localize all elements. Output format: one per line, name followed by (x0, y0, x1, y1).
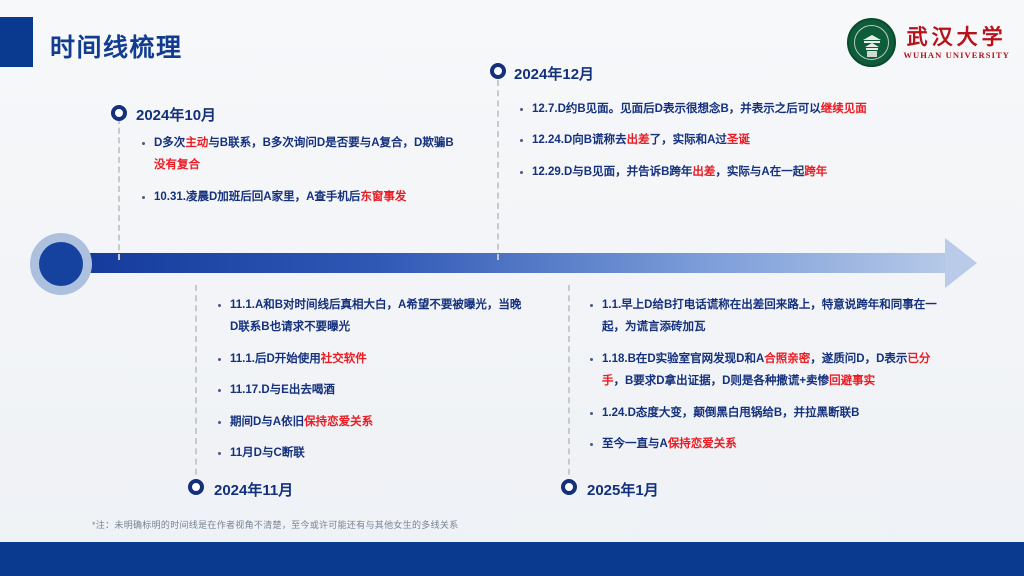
text-seg: 11.1.后D开始使用 (230, 353, 321, 365)
timeline-node-dec-2024[interactable] (490, 63, 506, 79)
list-item: 期间D与A依旧保持恋爱关系 (216, 411, 526, 433)
connector-dec-2024 (497, 80, 499, 260)
list-item: 1.24.D态度大变，颠倒黑白甩锅给B，并拉黑断联B (588, 402, 938, 424)
bullet-list-oct-2024: D多次主动与B联系，B多次询问D是否要与A复合，D欺骗B没有复合 10.31.凌… (140, 132, 460, 208)
list-item: 1.1.早上D给B打电话谎称在出差回来路上，特意说跨年和同事在一起，为谎言添砖加… (588, 294, 938, 339)
slide-canvas: 时间线梳理 武汉大学 WUHAN UNIVERSITY 2024年10月 (0, 0, 1024, 576)
list-item: 11.1.后D开始使用社交软件 (216, 348, 526, 370)
timeline-node-oct-2024[interactable] (111, 105, 127, 121)
header-accent-square (0, 17, 33, 67)
text-seg-highlight: 出差 (627, 134, 650, 146)
list-item: 11.17.D与E出去喝酒 (216, 379, 526, 401)
text-seg: 12.7.D约B见面。见面后D表示很想念B，并表示之后可以 (532, 103, 821, 115)
list-item: 11月D与C断联 (216, 442, 526, 464)
text-seg-highlight: 跨年 (804, 166, 827, 178)
text-seg-highlight: 保持恋爱关系 (668, 438, 737, 450)
timeline-arrow-head (945, 238, 977, 288)
university-name-block: 武汉大学 WUHAN UNIVERSITY (903, 26, 1010, 60)
text-seg: 11月D与C断联 (230, 447, 305, 459)
timeline-label-nov-2024: 2024年11月 (214, 479, 293, 500)
list-item: 10.31.凌晨D加班后回A家里，A查手机后东窗事发 (140, 186, 460, 208)
text-seg-highlight: 社交软件 (321, 353, 367, 365)
list-item: 11.1.A和B对时间线后真相大白，A希望不要被曝光，当晚D联系B也请求不要曝光 (216, 294, 526, 339)
content-block-oct-2024: D多次主动与B联系，B多次询问D是否要与A复合，D欺骗B没有复合 10.31.凌… (140, 132, 460, 217)
timeline-label-jan-2025: 2025年1月 (587, 479, 659, 500)
bullet-list-jan-2025: 1.1.早上D给B打电话谎称在出差回来路上，特意说跨年和同事在一起，为谎言添砖加… (588, 294, 938, 456)
text-seg: 期间D与A依旧 (230, 416, 304, 428)
list-item: 12.24.D向B谎称去出差了，实际和A过圣诞 (518, 129, 918, 151)
connector-oct-2024 (118, 118, 120, 260)
timeline-start-dot (39, 242, 83, 286)
text-seg: 了，实际和A过 (650, 134, 727, 146)
text-seg: ，遂质问D，D表示 (810, 353, 907, 365)
pavilion-building-icon (858, 33, 886, 59)
timeline-label-oct-2024: 2024年10月 (136, 104, 216, 125)
university-name-en: WUHAN UNIVERSITY (903, 51, 1010, 60)
text-seg: ，B要求D拿出证据，D则是各种撒谎+卖惨 (614, 375, 830, 387)
text-seg: 与B联系，B多次询问D是否要与A复合，D欺骗B (208, 137, 453, 149)
text-seg-highlight: 继续见面 (821, 103, 867, 115)
text-seg: 1.24.D态度大变，颠倒黑白甩锅给B，并拉黑断联B (602, 407, 860, 419)
list-item: 至今一直与A保持恋爱关系 (588, 433, 938, 455)
text-seg: 为谎言添砖加瓦 (625, 321, 706, 333)
text-seg-highlight: 保持恋爱关系 (304, 416, 373, 428)
content-block-nov-2024: 11.1.A和B对时间线后真相大白，A希望不要被曝光，当晚D联系B也请求不要曝光… (216, 294, 526, 474)
university-emblem-icon (847, 18, 896, 67)
list-item: D多次主动与B联系，B多次询问D是否要与A复合，D欺骗B没有复合 (140, 132, 460, 177)
list-item: 1.18.B在D实验室官网发现D和A合照亲密，遂质问D，D表示已分手，B要求D拿… (588, 348, 938, 393)
text-seg-highlight: 圣诞 (727, 134, 750, 146)
timeline-label-dec-2024: 2024年12月 (514, 63, 594, 84)
connector-nov-2024 (195, 285, 197, 485)
text-seg-highlight: 东窗事发 (360, 191, 406, 203)
timeline-arrow-bar (60, 253, 962, 273)
text-seg: 1.18.B在D实验室官网发现D和A (602, 353, 764, 365)
content-block-dec-2024: 12.7.D约B见面。见面后D表示很想念B，并表示之后可以继续见面 12.24.… (518, 98, 918, 192)
text-seg: 11.17.D与E出去喝酒 (230, 384, 335, 396)
text-seg: ，实际与A在一起 (715, 166, 804, 178)
footer-bar (0, 542, 1024, 576)
text-seg: 10.31.凌晨D加班后回A家里，A查手机后 (154, 191, 360, 203)
bullet-list-nov-2024: 11.1.A和B对时间线后真相大白，A希望不要被曝光，当晚D联系B也请求不要曝光… (216, 294, 526, 465)
list-item: 12.7.D约B见面。见面后D表示很想念B，并表示之后可以继续见面 (518, 98, 918, 120)
connector-jan-2025 (568, 285, 570, 485)
timeline-node-nov-2024[interactable] (188, 479, 204, 495)
university-logo: 武汉大学 WUHAN UNIVERSITY (847, 18, 1010, 67)
text-seg: 12.24.D向B谎称去 (532, 134, 627, 146)
text-seg: 至今一直与A (602, 438, 668, 450)
timeline-node-jan-2025[interactable] (561, 479, 577, 495)
text-seg-highlight: 主动 (185, 137, 208, 149)
text-seg-highlight: 合照亲密 (764, 353, 810, 365)
text-seg-highlight: 没有复合 (154, 159, 200, 171)
text-seg: 11.1.A和B对时间线后真相大白，A希望不要被曝光，当晚D联系B也请求不要曝光 (230, 299, 521, 333)
university-name-cn: 武汉大学 (907, 26, 1007, 47)
footnote-text: *注：未明确标明的时间线是在作者视角不清楚，至今或许可能还有与其他女生的多线关系 (92, 518, 459, 531)
text-seg: D多次 (154, 137, 185, 149)
text-seg: 12.29.D与B见面，并告诉B跨年 (532, 166, 692, 178)
list-item: 12.29.D与B见面，并告诉B跨年出差，实际与A在一起跨年 (518, 161, 918, 183)
text-seg-highlight: 出差 (692, 166, 715, 178)
emblem-inner-ring (854, 25, 889, 60)
page-title: 时间线梳理 (50, 28, 183, 64)
content-block-jan-2025: 1.1.早上D给B打电话谎称在出差回来路上，特意说跨年和同事在一起，为谎言添砖加… (588, 294, 938, 465)
text-seg-highlight: 回避事实 (829, 375, 875, 387)
bullet-list-dec-2024: 12.7.D约B见面。见面后D表示很想念B，并表示之后可以继续见面 12.24.… (518, 98, 918, 183)
